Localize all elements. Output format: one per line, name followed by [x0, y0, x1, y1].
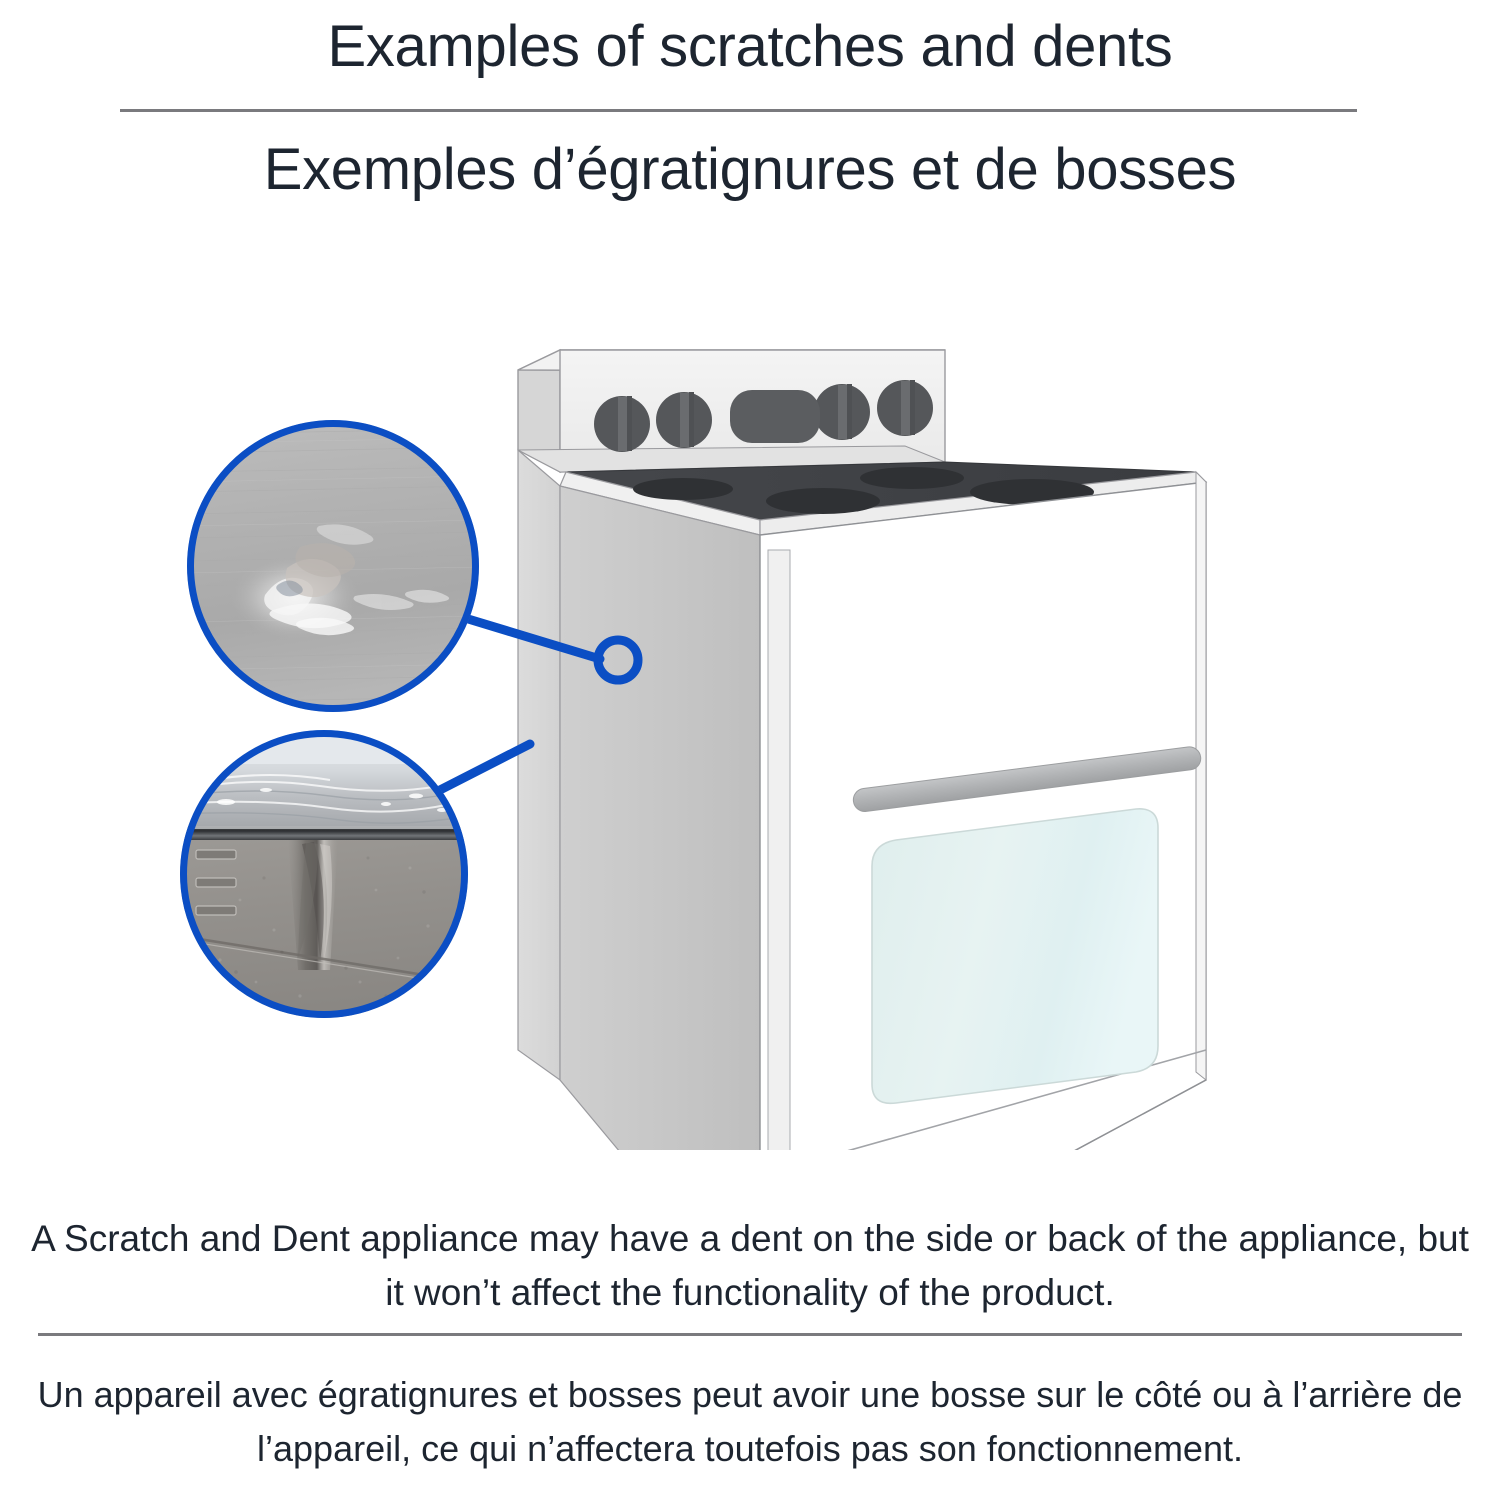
control-knob-2[interactable] [656, 392, 712, 448]
scratch-photo-art [187, 420, 479, 712]
burner-rear-left [633, 478, 733, 500]
control-knob-3[interactable] [814, 384, 870, 440]
infographic-page: Examples of scratches and dents Exemples… [0, 0, 1500, 1500]
burner-front-left [766, 488, 880, 514]
page-title-french: Exemples d’égratignures et de bosses [0, 130, 1500, 210]
control-knob-1[interactable] [594, 396, 650, 452]
control-knob-4[interactable] [877, 380, 933, 436]
dent-closeup-photo [180, 730, 468, 1018]
left-side-panel [518, 450, 760, 1150]
divider-top [120, 109, 1357, 112]
burner-rear-right [860, 467, 964, 489]
caption-french: Un appareil avec égratignures et bosses … [10, 1368, 1490, 1476]
dent-photo-art [180, 730, 468, 1018]
page-title-english: Examples of scratches and dents [0, 8, 1500, 86]
oven-window [872, 809, 1158, 1104]
control-display[interactable] [730, 390, 820, 443]
caption-english: A Scratch and Dent appliance may have a … [30, 1212, 1470, 1320]
divider-bottom [38, 1333, 1462, 1336]
scratch-closeup-photo [187, 420, 479, 712]
